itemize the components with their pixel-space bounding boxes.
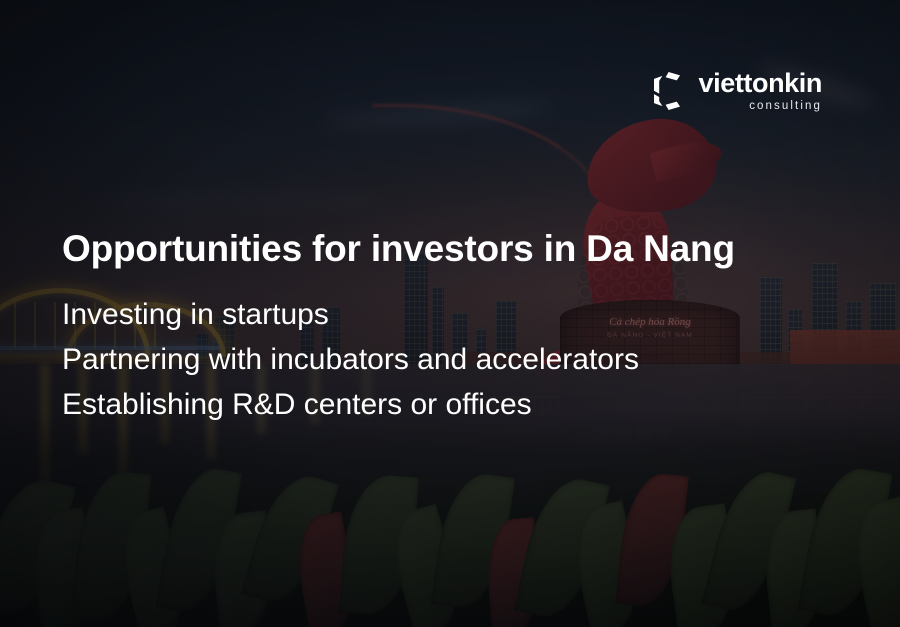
viettonkin-hexagon-c-icon (651, 71, 687, 111)
bullet-line: Partnering with incubators and accelerat… (62, 337, 639, 382)
logo-wordmark: viettonkin consulting (698, 70, 822, 113)
slide-canvas: Cá chép hóa Rồng ĐÀ NẴNG - VIỆT NAM D H … (0, 0, 900, 627)
viettonkin-logo[interactable]: viettonkin consulting (651, 70, 822, 113)
bullet-line: Investing in startups (62, 292, 639, 337)
slide-headline: Opportunities for investors in Da Nang (62, 228, 735, 270)
slide-content: viettonkin consulting Opportunities for … (0, 0, 900, 627)
bullet-line: Establishing R&D centers or offices (62, 382, 639, 427)
slide-bullet-list: Investing in startups Partnering with in… (62, 292, 639, 427)
logo-brand-name: viettonkin (698, 70, 822, 97)
logo-tagline: consulting (698, 101, 822, 113)
